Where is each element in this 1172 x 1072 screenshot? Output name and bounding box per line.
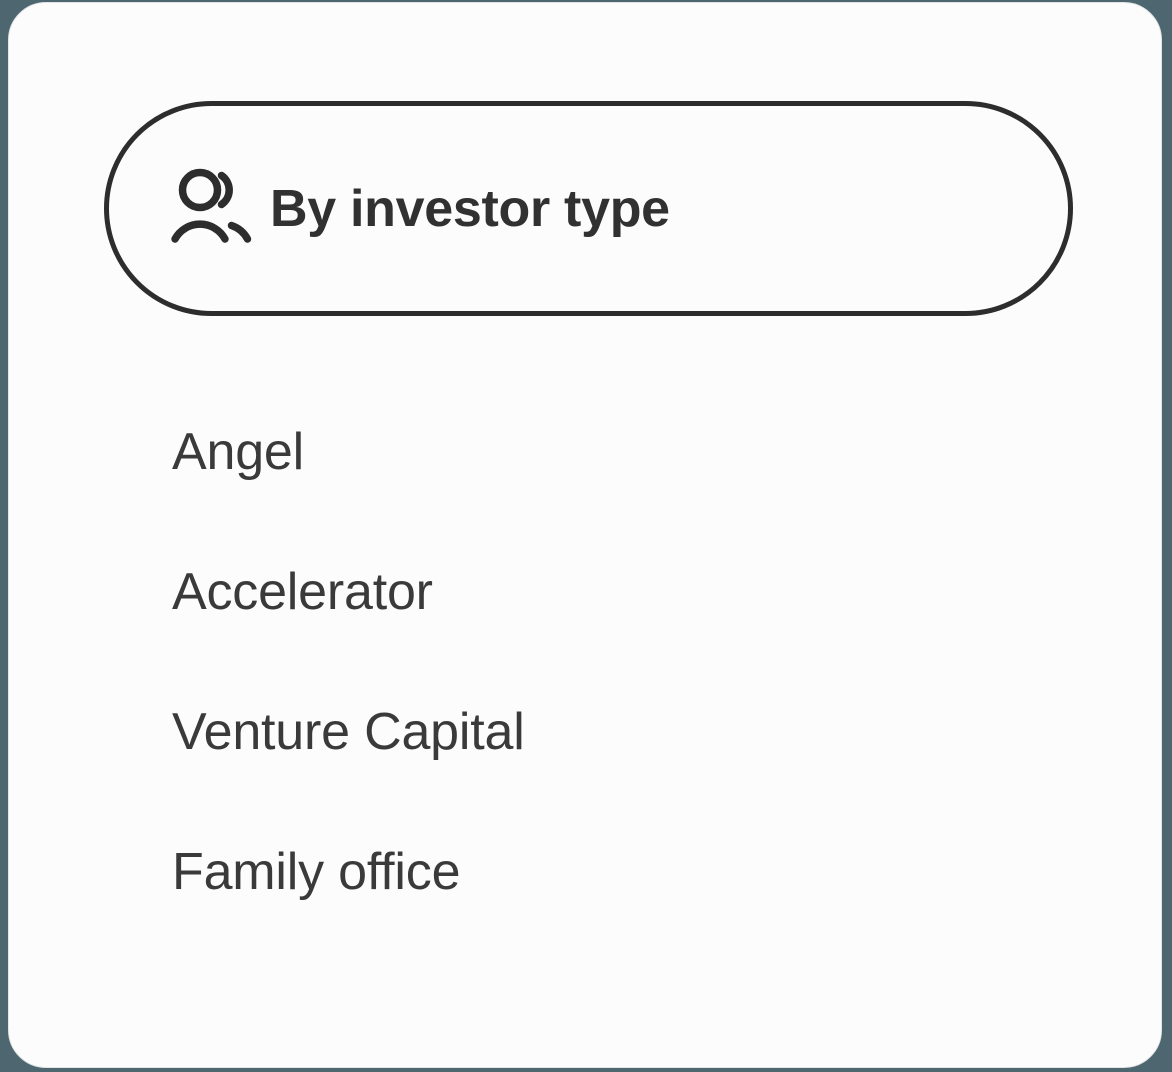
list-item-label: Accelerator — [172, 561, 433, 623]
list-item-accelerator[interactable]: Accelerator — [172, 561, 1121, 701]
investor-type-option-list: Angel Accelerator Venture Capital Family… — [172, 421, 1121, 981]
list-item-label: Venture Capital — [172, 701, 525, 763]
list-item-label: Angel — [172, 421, 304, 483]
investor-type-filter-card: By investor type Angel Accelerator Ventu… — [8, 2, 1162, 1068]
list-item-family-office[interactable]: Family office — [172, 841, 1121, 981]
users-icon — [169, 167, 253, 251]
investor-type-filter-button[interactable]: By investor type — [104, 101, 1073, 316]
list-item-venture-capital[interactable]: Venture Capital — [172, 701, 1121, 841]
list-item-label: Family office — [172, 841, 460, 903]
list-item-angel[interactable]: Angel — [172, 421, 1121, 561]
investor-type-filter-label: By investor type — [270, 183, 670, 235]
